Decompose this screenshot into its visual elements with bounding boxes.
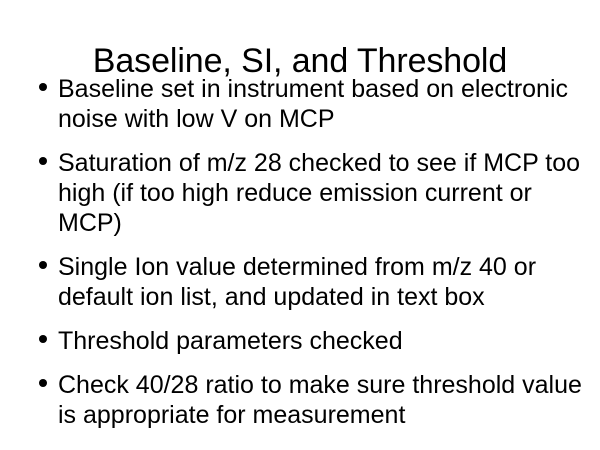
list-item: Check 40/28 ratio to make sure threshold… bbox=[36, 370, 588, 430]
filled-circle-bullet-icon bbox=[39, 157, 47, 165]
list-item-text: Single Ion value determined from m/z 40 … bbox=[58, 252, 588, 312]
bullet-list: Baseline set in instrument based on elec… bbox=[36, 74, 588, 430]
list-item: Saturation of m/z 28 checked to see if M… bbox=[36, 148, 588, 238]
filled-circle-bullet-icon bbox=[39, 379, 47, 387]
filled-circle-bullet-icon bbox=[39, 83, 47, 91]
list-item: Threshold parameters checked bbox=[36, 326, 588, 356]
list-item-text: Check 40/28 ratio to make sure threshold… bbox=[58, 370, 588, 430]
presentation-slide: Baseline, SI, and Threshold Baseline set… bbox=[0, 0, 600, 450]
list-item-text: Baseline set in instrument based on elec… bbox=[58, 74, 588, 134]
list-item: Baseline set in instrument based on elec… bbox=[36, 74, 588, 134]
filled-circle-bullet-icon bbox=[39, 335, 47, 343]
list-item: Single Ion value determined from m/z 40 … bbox=[36, 252, 588, 312]
list-item-text: Saturation of m/z 28 checked to see if M… bbox=[58, 148, 588, 238]
filled-circle-bullet-icon bbox=[39, 261, 47, 269]
list-item-text: Threshold parameters checked bbox=[58, 326, 588, 356]
